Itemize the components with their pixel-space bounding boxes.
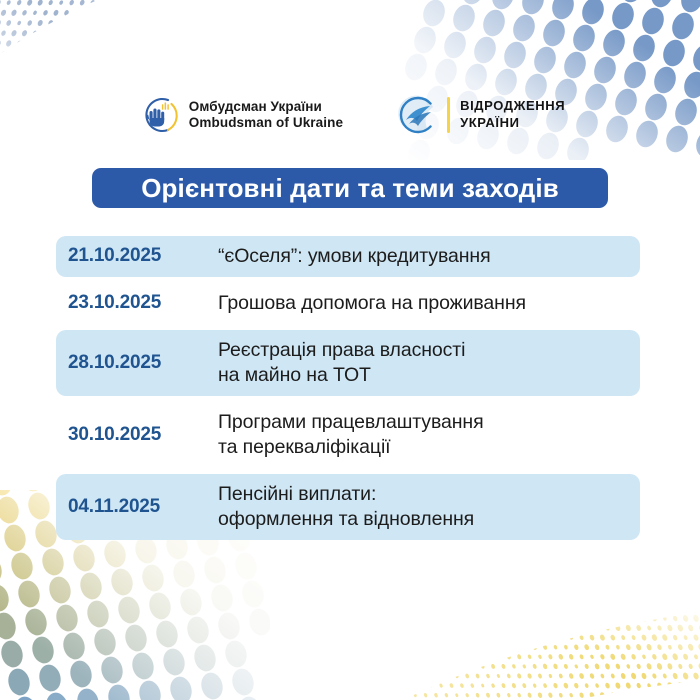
schedule-row-topic-line2: на майно на ТОТ [218,363,640,388]
logo-vidrodzhennia-line2: УКРАЇНИ [460,115,565,132]
logo-ombudsman: Омбудсман України Ombudsman of Ukraine [135,93,343,137]
logo-vidrodzhennia: ВІДРОДЖЕННЯ УКРАЇНИ [397,95,565,135]
hand-trident-circle-icon [135,93,179,137]
decor-bottom-right-halftone-wave [300,540,700,700]
schedule-row-topic-line1: Реєстрація права власності [218,339,465,361]
logo-bar: Омбудсман України Ombudsman of Ukraine В… [0,86,700,144]
schedule-row-topic-line1: Пенсійні виплати: [218,483,376,505]
schedule-row: 04.11.2025Пенсійні виплати:оформлення та… [56,474,640,540]
schedule-row-topic-line2: та перекваліфікації [218,435,640,460]
schedule-row: 21.10.2025“єОселя”: умови кредитування [56,236,640,277]
schedule-row-topic: Програми працевлаштуваннята перекваліфік… [218,410,640,460]
logo-ombudsman-line1: Омбудсман України [189,99,343,115]
logo-ombudsman-text: Омбудсман України Ombudsman of Ukraine [189,99,343,132]
poster-canvas: Омбудсман України Ombudsman of Ukraine В… [0,0,700,700]
schedule-row-date: 04.11.2025 [68,496,218,518]
logo-vidrodzhennia-line1: ВІДРОДЖЕННЯ [460,98,565,115]
schedule-row-topic: “єОселя”: умови кредитування [218,244,640,269]
logo-vidrodzhennia-text: ВІДРОДЖЕННЯ УКРАЇНИ [460,98,565,132]
schedule-row-topic: Пенсійні виплати:оформлення та відновлен… [218,482,640,532]
schedule-row-topic: Реєстрація права власностіна майно на ТО… [218,338,640,388]
schedule-row-date: 28.10.2025 [68,352,218,374]
schedule-row: 30.10.2025Програми працевлаштуваннята пе… [56,402,640,468]
schedule-row-date: 23.10.2025 [68,292,218,314]
schedule-row-topic-line1: Грошова допомога на проживання [218,292,526,314]
schedule-row-topic-line2: оформлення та відновлення [218,507,640,532]
schedule-list: 21.10.2025“єОселя”: умови кредитування23… [56,236,640,546]
logo-divider-bar [447,97,450,133]
schedule-row-topic-line1: Програми працевлаштування [218,411,484,433]
schedule-row: 23.10.2025Грошова допомога на проживання [56,283,640,324]
page-title: Орієнтовні дати та теми заходів [141,175,559,201]
schedule-row: 28.10.2025Реєстрація права власностіна м… [56,330,640,396]
schedule-row-date: 30.10.2025 [68,424,218,446]
swallow-bird-circle-icon [397,95,437,135]
schedule-row-topic-line1: “єОселя”: умови кредитування [218,245,491,267]
logo-ombudsman-line2: Ombudsman of Ukraine [189,115,343,131]
schedule-row-topic: Грошова допомога на проживання [218,291,640,316]
schedule-row-date: 21.10.2025 [68,245,218,267]
title-banner: Орієнтовні дати та теми заходів [92,168,608,208]
